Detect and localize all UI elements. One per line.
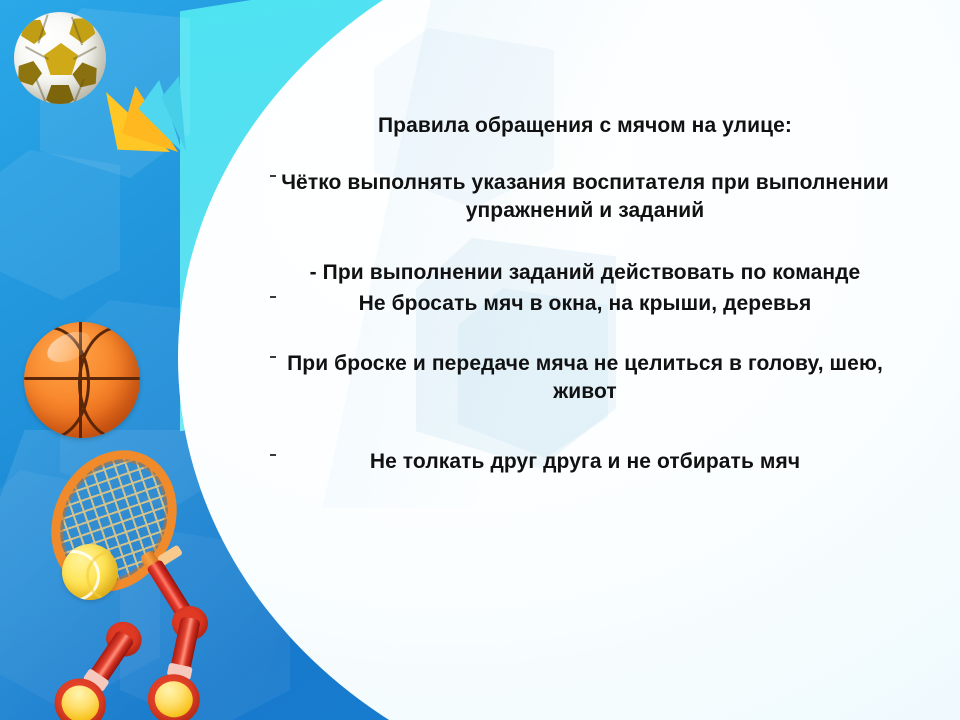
soccer-ball-icon <box>14 12 106 104</box>
bullet-dash-icon <box>270 356 276 358</box>
bullet-dash-icon <box>270 454 276 456</box>
soccer-seam <box>25 46 49 60</box>
rule-item-4: При броске и передаче мяча не целиться в… <box>262 350 908 405</box>
background-hex-plate <box>0 150 120 300</box>
bullet-dash-icon <box>270 175 276 177</box>
club-head-gold <box>151 678 196 720</box>
gymnastics-clubs-icon <box>92 598 242 720</box>
club-head <box>143 669 204 720</box>
rule-item-1: Чётко выполнять указания воспитателя при… <box>262 169 908 224</box>
tennis-ball-icon <box>62 544 118 600</box>
rule-text: Чётко выполнять указания воспитателя при… <box>281 171 889 222</box>
bullet-dash-icon <box>270 296 276 298</box>
basketball-icon <box>24 322 140 438</box>
rule-text: Не толкать друг друга и не отбирать мяч <box>370 450 800 473</box>
rule-text: При броске и передаче мяча не целиться в… <box>287 352 883 403</box>
rule-text: - При выполнении заданий действовать по … <box>310 261 861 284</box>
soccer-panel <box>46 85 74 104</box>
soccer-seam <box>73 46 97 60</box>
motion-trail-icon <box>86 74 196 160</box>
slide-canvas: Правила обращения с мячом на улице: Чётк… <box>0 0 960 720</box>
page-title: Правила обращения с мячом на улице: <box>262 112 908 139</box>
rule-item-5: Не толкать друг друга и не отбирать мяч <box>262 448 908 476</box>
rule-item-2: - При выполнении заданий действовать по … <box>262 259 908 287</box>
rule-text: Не бросать мяч в окна, на крыши, деревья <box>359 292 812 315</box>
rule-item-3: Не бросать мяч в окна, на крыши, деревья <box>262 290 908 318</box>
slide-content: Правила обращения с мячом на улице: Чётк… <box>262 112 908 475</box>
